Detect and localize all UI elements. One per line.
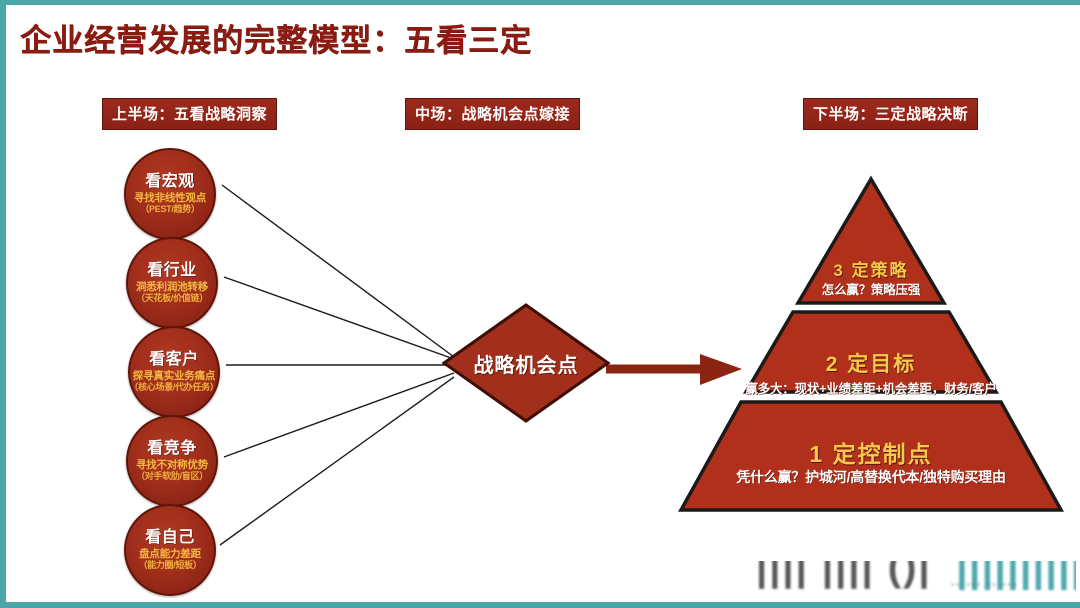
look-circle-title: 看竞争 xyxy=(147,440,197,457)
look-circle-sub2: （核心场景/代办任务） xyxy=(129,383,218,393)
look-circle-sub2: （能力圈/短板） xyxy=(138,561,201,571)
look-circle-sub1: 寻找不对称优势 xyxy=(136,460,208,471)
section-header-middle: 中场：战略机会点嫁接 xyxy=(405,98,580,130)
page-title: 企业经营发展的完整模型：五看三定 xyxy=(20,15,532,60)
look-circle-title: 看自己 xyxy=(145,529,195,546)
pyramid-tier-3 xyxy=(798,179,944,303)
look-circle-competition[interactable]: 看竞争 寻找不对称优势 （对手软肋/盲区） xyxy=(126,415,218,507)
pyramid-tier-2 xyxy=(746,312,996,392)
watermark-line-c: ·· ··· ·· ··· xyxy=(951,577,1018,592)
look-circle-sub2: （对手软肋/盲区） xyxy=(136,472,208,482)
pyramid-shape-icon xyxy=(666,173,1076,518)
look-circle-sub1: 盘点能力差距 xyxy=(139,549,201,560)
look-circle-sub1: 探寻真实业务痛点 xyxy=(133,371,215,382)
look-circle-title: 看客户 xyxy=(149,351,199,368)
look-circle-title: 看宏观 xyxy=(145,173,195,190)
slide-canvas: 企业经营发展的完整模型：五看三定 上半场：五看战略洞察 中场：战略机会点嫁接 下… xyxy=(0,0,1080,608)
look-circle-self[interactable]: 看自己 盘点能力差距 （能力圈/短板） xyxy=(124,504,216,596)
section-header-left: 上半场：五看战略洞察 xyxy=(102,98,277,130)
look-circle-sub1: 洞悉利润池转移 xyxy=(136,282,208,293)
look-circle-customer[interactable]: 看客户 探寻真实业务痛点 （核心场景/代办任务） xyxy=(128,326,220,418)
look-circle-sub1: 寻找非线性观点 xyxy=(134,193,206,204)
three-decisions-pyramid: 3 定策略 怎么赢？策略压强 2 定目标 赢多大：现状+业绩差距+机会差距，财务… xyxy=(666,173,1076,518)
look-circle-title: 看行业 xyxy=(147,262,197,279)
look-circle-sub2: （PEST/趋势） xyxy=(140,205,199,215)
section-header-right: 下半场：三定战略决断 xyxy=(803,98,978,130)
look-circle-macro[interactable]: 看宏观 寻找非线性观点 （PEST/趋势） xyxy=(124,148,216,240)
watermark-line-a: |||| |||| ()| xyxy=(756,561,932,590)
look-circle-industry[interactable]: 看行业 洞悉利润池转移 （天花板/价值链） xyxy=(126,237,218,329)
pyramid-tier-1 xyxy=(681,402,1061,510)
watermark-strip: |||| |||| ()| ||||||||||) ·· ··· ·· ··· xyxy=(706,561,1076,607)
look-circle-sub2: （天花板/价值链） xyxy=(136,294,208,304)
strategy-opportunity-diamond[interactable]: 战略机会点 xyxy=(440,301,612,425)
diamond-label: 战略机会点 xyxy=(440,301,612,425)
